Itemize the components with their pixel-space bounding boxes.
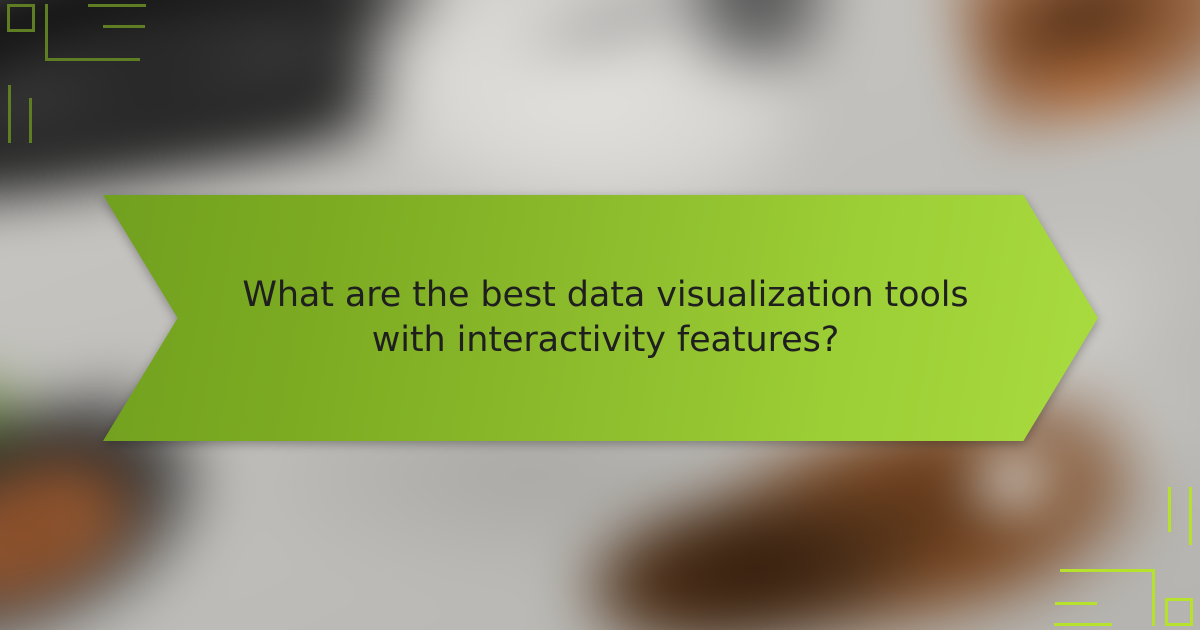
banner-headline-text: What are the best data visualization too… xyxy=(193,195,1019,441)
corner-rule-vertical-outer xyxy=(1189,487,1192,545)
poster-canvas: What are the best data visualization too… xyxy=(0,0,1200,630)
corner-rule-horizontal-inner xyxy=(1055,602,1097,605)
corner-rule-vertical-outer xyxy=(8,85,11,143)
background-round-object xyxy=(971,448,1056,514)
headline-banner: What are the best data visualization too… xyxy=(103,195,1098,441)
corner-elbow-vertical xyxy=(45,4,48,61)
corner-elbow-horizontal xyxy=(1060,569,1155,572)
corner-elbow-vertical xyxy=(1152,569,1155,626)
corner-square-icon xyxy=(7,4,35,32)
corner-rule-vertical-inner xyxy=(29,98,32,143)
corner-rule-vertical-inner xyxy=(1168,487,1171,532)
corner-rule-horizontal-inner xyxy=(103,25,145,28)
corner-square-icon xyxy=(1165,598,1193,626)
corner-rule-horizontal-outer xyxy=(1054,623,1112,626)
corner-rule-horizontal-outer xyxy=(88,4,146,7)
corner-elbow-horizontal xyxy=(45,58,140,61)
